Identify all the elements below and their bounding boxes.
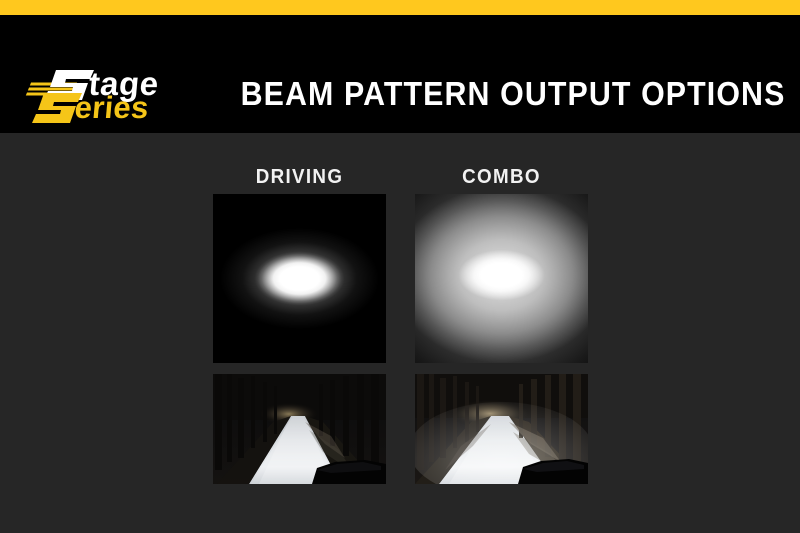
beam-columns: DRIVING <box>213 160 588 484</box>
driving-beam-glow <box>213 194 386 363</box>
column-driving: DRIVING <box>213 160 386 484</box>
svg-text:eries: eries <box>73 90 150 125</box>
page-title: BEAM PATTERN OUTPUT OPTIONS <box>241 75 762 113</box>
column-combo: COMBO <box>415 160 588 484</box>
header-bar: tage eries BEAM PATTERN OUTPUT OPTIONS <box>0 15 800 133</box>
column-label-driving: DRIVING <box>218 160 381 194</box>
combo-road-photo <box>415 374 588 484</box>
header-accent-bar <box>0 0 800 15</box>
stage-series-logo: tage eries <box>22 48 182 126</box>
driving-road-photo <box>213 374 386 484</box>
column-label-combo: COMBO <box>420 160 583 194</box>
beam-pattern-infographic: tage eries BEAM PATTERN OUTPUT OPTIONS D… <box>0 0 800 533</box>
combo-beam-glow <box>415 194 588 363</box>
combo-beam-pattern <box>415 194 588 363</box>
driving-beam-pattern <box>213 194 386 363</box>
